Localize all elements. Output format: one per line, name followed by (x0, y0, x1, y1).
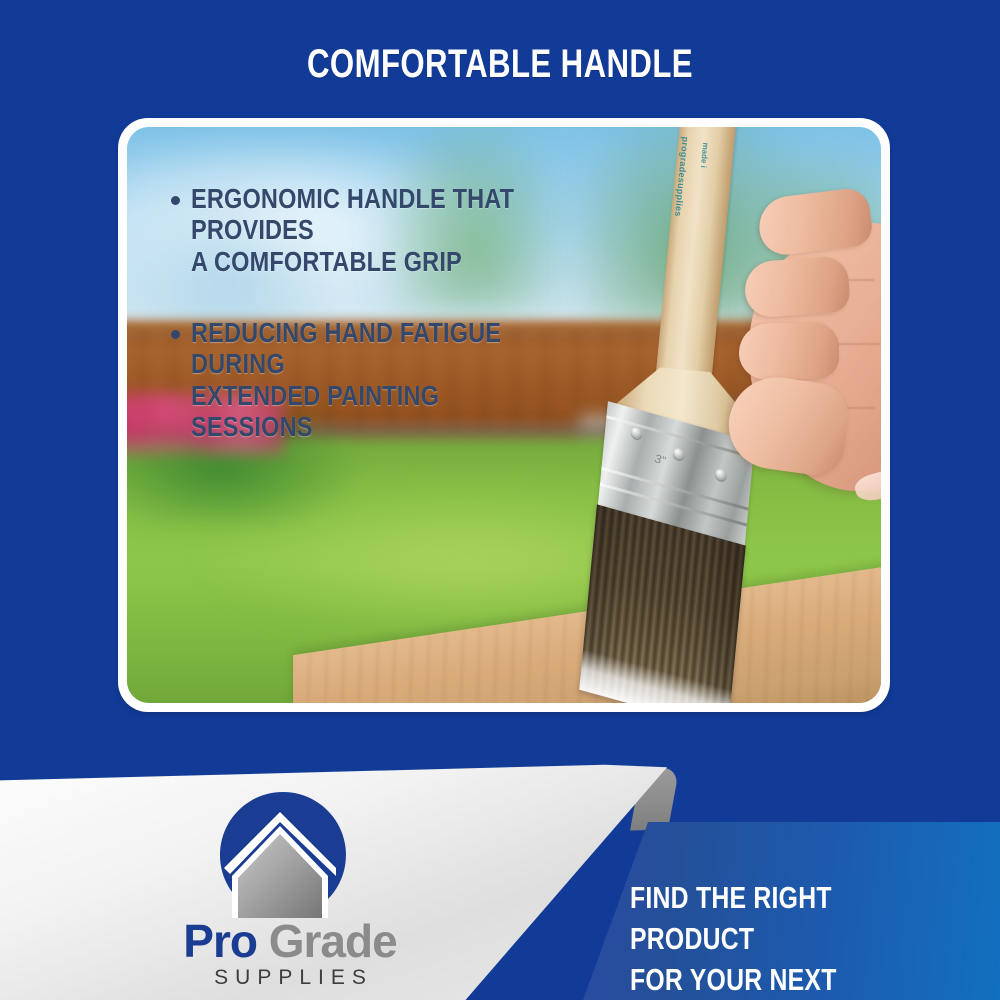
handle-brand-text2: made i (690, 142, 710, 262)
ring-finger (739, 322, 840, 380)
middle-finger (743, 255, 851, 318)
hand (727, 183, 881, 513)
footer: Pro Grade SUPPLIES FIND THE RIGHT PRODUC… (0, 760, 1000, 1000)
ferrule-rivet (673, 447, 685, 461)
logo-wordmark: Pro Grade (150, 918, 430, 964)
brush-handle: progradesupplies made i (654, 127, 738, 400)
logo-word-grade: Grade (257, 915, 397, 967)
list-item: REDUCING HAND FATIGUE DURING EXTENDED PA… (171, 317, 601, 442)
ferrule-size-mark: 3" (654, 451, 666, 468)
thumb (723, 371, 853, 479)
handle-brand-text: progradesupplies (669, 136, 690, 256)
list-item: ERGONOMIC HANDLE THAT PROVIDES A COMFORT… (171, 183, 601, 277)
product-feature-graphic: COMFORTABLE HANDLE (0, 0, 1000, 1000)
footer-tagline: FIND THE RIGHT PRODUCT FOR YOUR NEXT REN… (630, 878, 902, 1000)
brand-logo: Pro Grade SUPPLIES (150, 790, 430, 980)
bullet-text: ERGONOMIC HANDLE THAT PROVIDES A COMFORT… (191, 183, 535, 277)
feature-bullet-list: ERGONOMIC HANDLE THAT PROVIDES A COMFORT… (171, 183, 601, 483)
ferrule-rivet (631, 426, 643, 440)
bullet-dot-icon (171, 330, 180, 339)
bullet-text: REDUCING HAND FATIGUE DURING EXTENDED PA… (191, 317, 535, 442)
ferrule-rivet (715, 468, 727, 482)
logo-word-pro: Pro (183, 915, 257, 967)
house-circle-logo-icon (218, 790, 348, 920)
page-title: COMFORTABLE HANDLE (110, 44, 890, 84)
logo-subtitle: SUPPLIES (150, 966, 430, 990)
bullet-dot-icon (171, 196, 180, 205)
product-photo-card: progradesupplies made i 3" (118, 118, 890, 712)
product-photo: progradesupplies made i 3" (127, 127, 881, 703)
